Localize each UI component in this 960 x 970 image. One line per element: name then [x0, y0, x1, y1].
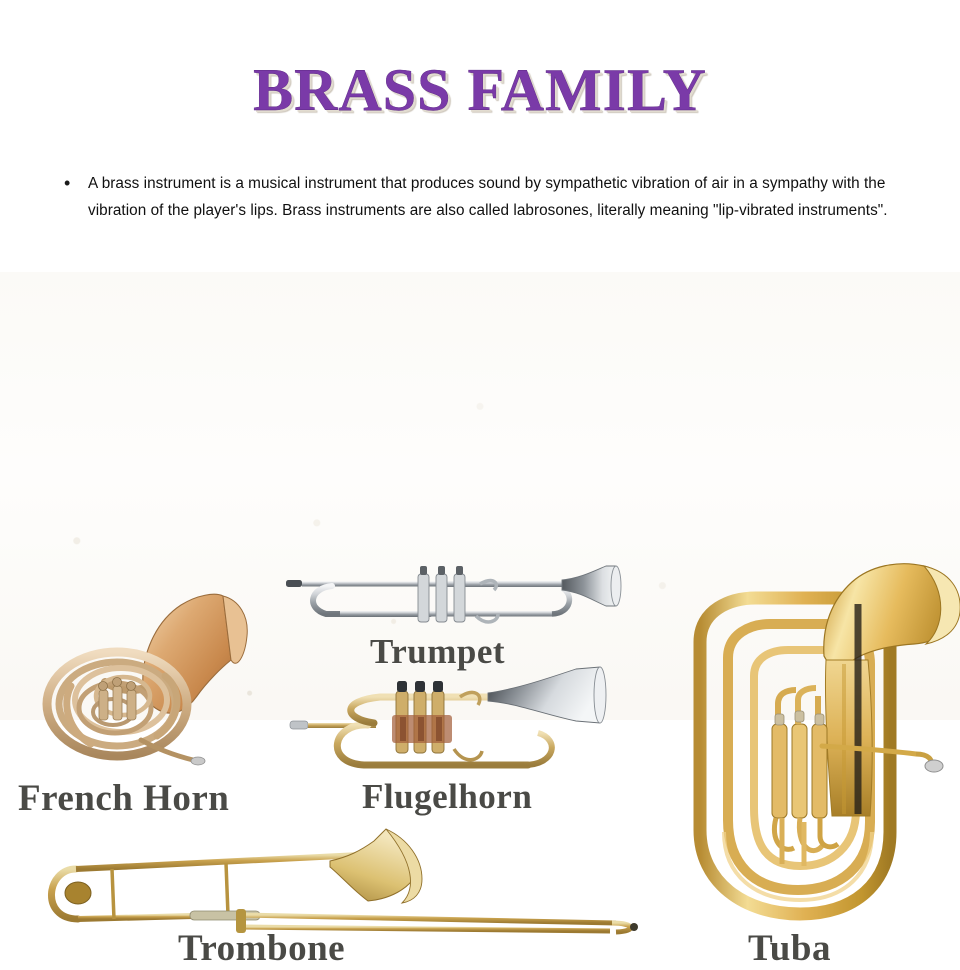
trombone-brace-1 — [112, 869, 114, 919]
flugelhorn-bell — [488, 667, 603, 723]
french-horn-image — [25, 564, 310, 769]
tuba-illustration — [672, 564, 960, 939]
trumpet-caption: Trumpet — [370, 632, 505, 672]
flugelhorn-image — [288, 667, 623, 779]
trumpet-bell-rim — [611, 566, 621, 606]
bullet-list-item: • A brass instrument is a musical instru… — [58, 170, 904, 224]
flugelhorn-mouthpiece — [290, 721, 308, 729]
trombone-caption: Trombone — [178, 927, 345, 970]
trumpet-right-bow — [552, 588, 569, 614]
slide-canvas: BRASS FAMILY • A brass instrument is a m… — [0, 0, 960, 720]
tuba-bell-throat — [825, 660, 872, 816]
trumpet-mouthpiece — [286, 580, 302, 587]
trombone-outer-slide-upper — [240, 915, 616, 923]
french-horn-caption: French Horn — [18, 777, 229, 820]
french-horn-illustration — [25, 564, 310, 769]
tuba-caption: Tuba — [748, 927, 831, 970]
bullet-paragraph-text: A brass instrument is a musical instrume… — [88, 170, 904, 224]
trombone-image — [30, 827, 655, 932]
trombone-counterweight — [65, 882, 91, 904]
flugelhorn-valve-block — [392, 691, 452, 753]
flugelhorn-caption: Flugelhorn — [362, 777, 532, 817]
trumpet-valve-buttons — [420, 566, 463, 575]
bullet-point-icon: • — [58, 170, 88, 197]
flugelhorn-water-key — [454, 749, 482, 760]
trombone-illustration — [30, 827, 655, 932]
trumpet-lower-tube — [340, 611, 555, 617]
flugelhorn-valve-buttons — [397, 681, 443, 692]
tuba-image — [672, 564, 960, 939]
flugelhorn-right-bow — [524, 733, 552, 765]
trumpet-tuning-slide — [313, 586, 430, 614]
french-horn-valves — [99, 678, 137, 721]
body-text-block: • A brass instrument is a musical instru… — [58, 170, 904, 224]
trombone-slide-end — [630, 923, 638, 931]
page-title: BRASS FAMILY — [0, 58, 960, 122]
french-horn-mouthpiece — [191, 757, 205, 765]
trombone-slide-bow — [612, 923, 631, 932]
trombone-brace-2 — [226, 863, 228, 915]
flugelhorn-illustration — [288, 667, 623, 779]
instrument-collage-figure: French Horn — [0, 272, 960, 720]
trumpet-valve-casings — [418, 574, 465, 622]
trumpet-illustration — [280, 564, 620, 636]
trumpet-image — [280, 564, 620, 636]
flugelhorn-bell-rim — [594, 667, 606, 723]
trombone-bell-tube — [76, 855, 360, 869]
tuba-mouthpiece — [925, 760, 943, 772]
